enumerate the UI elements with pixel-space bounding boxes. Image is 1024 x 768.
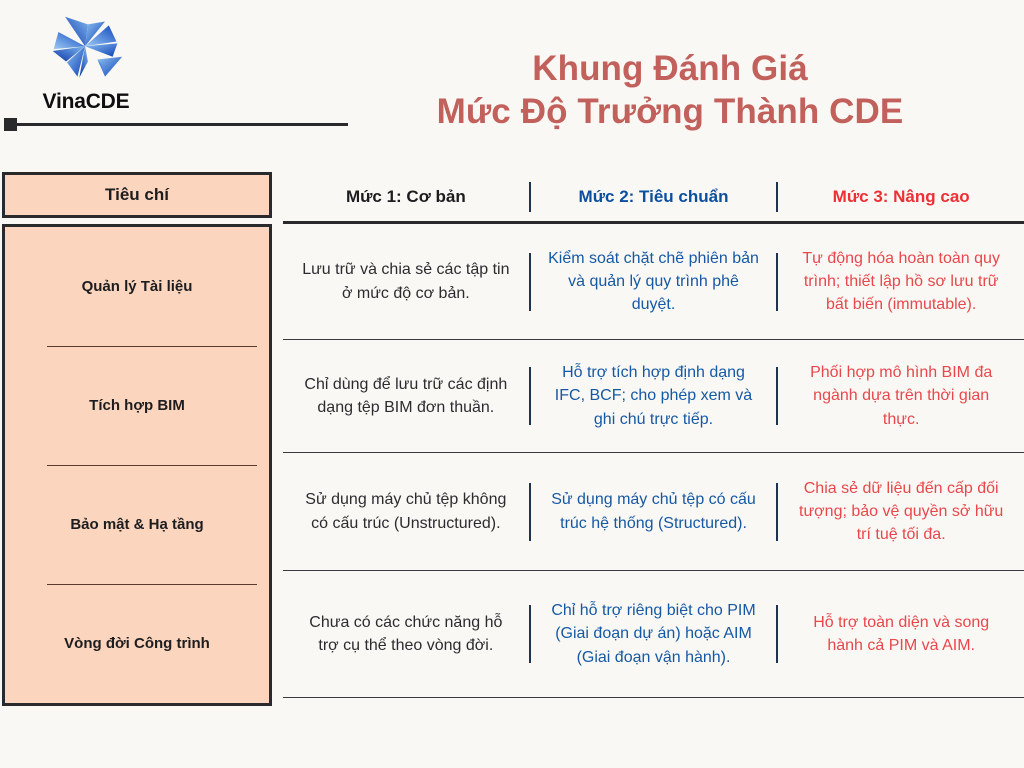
criteria-item-document-management: Quản lý Tài liệu [5, 227, 269, 346]
cell-level-3: Tự động hóa hoàn toàn quy trình; thiết l… [778, 247, 1024, 317]
cell-level-1: Sử dụng máy chủ tệp không có cấu trúc (U… [283, 488, 529, 534]
cell-level-3: Hỗ trợ toàn diện và song hành cả PIM và … [778, 611, 1024, 657]
criteria-label: Bảo mật & Hạ tầng [70, 516, 203, 533]
table-row: Chỉ dùng để lưu trữ các định dạng tệp BI… [283, 340, 1024, 453]
brand-name: VinaCDE [24, 91, 148, 112]
page-header: VinaCDE Khung Đánh Giá Mức Độ Trưởng Thà… [0, 0, 1024, 172]
table-row: Sử dụng máy chủ tệp không có cấu trúc (U… [283, 453, 1024, 571]
cell-level-2: Hỗ trợ tích hợp định dạng IFC, BCF; cho … [531, 361, 777, 431]
brand-logo: VinaCDE [24, 12, 148, 112]
criteria-column: Tiêu chí Quản lý Tài liệu Tích hợp BIM B… [2, 172, 272, 706]
criteria-header-label: Tiêu chí [105, 185, 169, 205]
criteria-label: Vòng đời Công trình [64, 635, 210, 652]
cell-level-2: Sử dụng máy chủ tệp có cấu trúc hệ thống… [531, 488, 777, 534]
vinacde-pinwheel-star-icon [38, 12, 134, 90]
cell-level-2: Chỉ hỗ trợ riêng biệt cho PIM (Giai đoạn… [531, 599, 777, 669]
criteria-list: Quản lý Tài liệu Tích hợp BIM Bảo mật & … [2, 224, 272, 706]
cell-level-2: Kiểm soát chặt chẽ phiên bản và quản lý … [531, 247, 777, 317]
rule-line [15, 123, 348, 126]
table-row: Chưa có các chức năng hỗ trợ cụ thể theo… [283, 571, 1024, 698]
cell-level-1: Lưu trữ và chia sẻ các tập tin ở mức độ … [283, 258, 529, 304]
levels-area: Mức 1: Cơ bản Mức 2: Tiêu chuẩn Mức 3: N… [283, 172, 1024, 698]
criteria-label: Tích hợp BIM [89, 397, 185, 414]
cell-level-1: Chỉ dùng để lưu trữ các định dạng tệp BI… [283, 373, 529, 419]
criteria-item-asset-lifecycle: Vòng đời Công trình [5, 584, 269, 703]
criteria-label: Quản lý Tài liệu [82, 278, 193, 295]
maturity-matrix: Tiêu chí Quản lý Tài liệu Tích hợp BIM B… [0, 172, 1024, 768]
page-title-line-2: Mức Độ Trưởng Thành CDE [350, 91, 990, 134]
level-header-3: Mức 3: Nâng cao [778, 187, 1024, 207]
level-header-2: Mức 2: Tiêu chuẩn [531, 187, 777, 207]
cell-level-1: Chưa có các chức năng hỗ trợ cụ thể theo… [283, 611, 529, 657]
table-row: Lưu trữ và chia sẻ các tập tin ở mức độ … [283, 224, 1024, 340]
cell-level-3: Phối hợp mô hình BIM đa ngành dựa trên t… [778, 361, 1024, 431]
criteria-item-bim-integration: Tích hợp BIM [5, 346, 269, 465]
levels-header-row: Mức 1: Cơ bản Mức 2: Tiêu chuẩn Mức 3: N… [283, 172, 1024, 224]
level-header-1: Mức 1: Cơ bản [283, 187, 529, 207]
criteria-header-box: Tiêu chí [2, 172, 272, 218]
header-rule [4, 118, 348, 132]
page-title: Khung Đánh Giá Mức Độ Trưởng Thành CDE [350, 48, 990, 133]
criteria-item-security-infrastructure: Bảo mật & Hạ tầng [5, 465, 269, 584]
page-title-line-1: Khung Đánh Giá [350, 48, 990, 91]
cell-level-3: Chia sẻ dữ liệu đến cấp đối tượng; bảo v… [778, 477, 1024, 547]
